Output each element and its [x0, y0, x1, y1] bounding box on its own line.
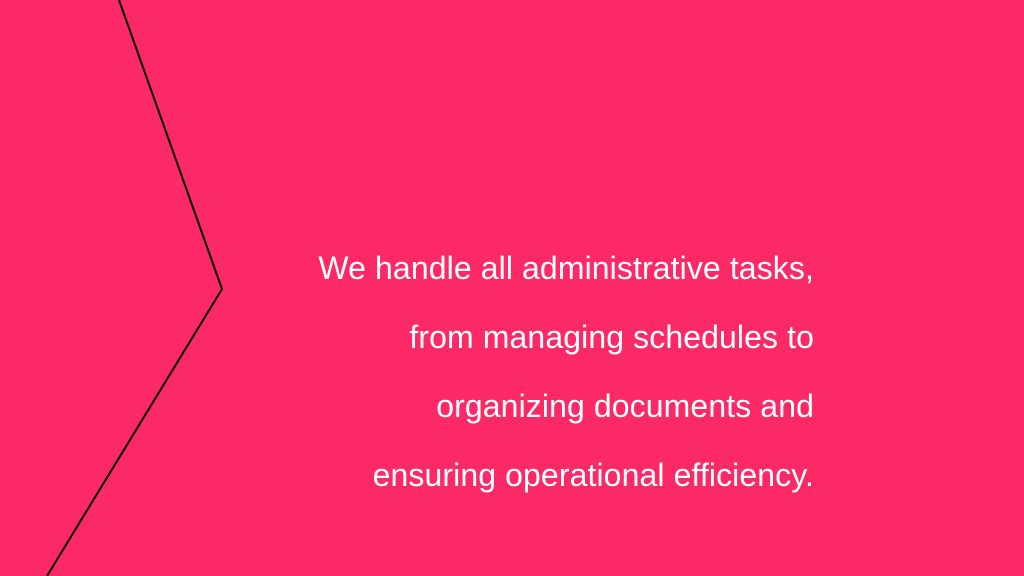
body-copy: We handle all administrative tasks, from…	[300, 216, 814, 527]
slide-canvas: We handle all administrative tasks, from…	[0, 0, 1024, 576]
chevron-line-path	[47, 0, 222, 576]
body-copy-line-2: from managing schedules to	[300, 320, 814, 355]
body-copy-line-3: organizing documents and	[300, 389, 814, 424]
body-copy-line-4: ensuring operational efficiency.	[300, 458, 814, 493]
body-copy-line-1: We handle all administrative tasks,	[300, 251, 814, 286]
